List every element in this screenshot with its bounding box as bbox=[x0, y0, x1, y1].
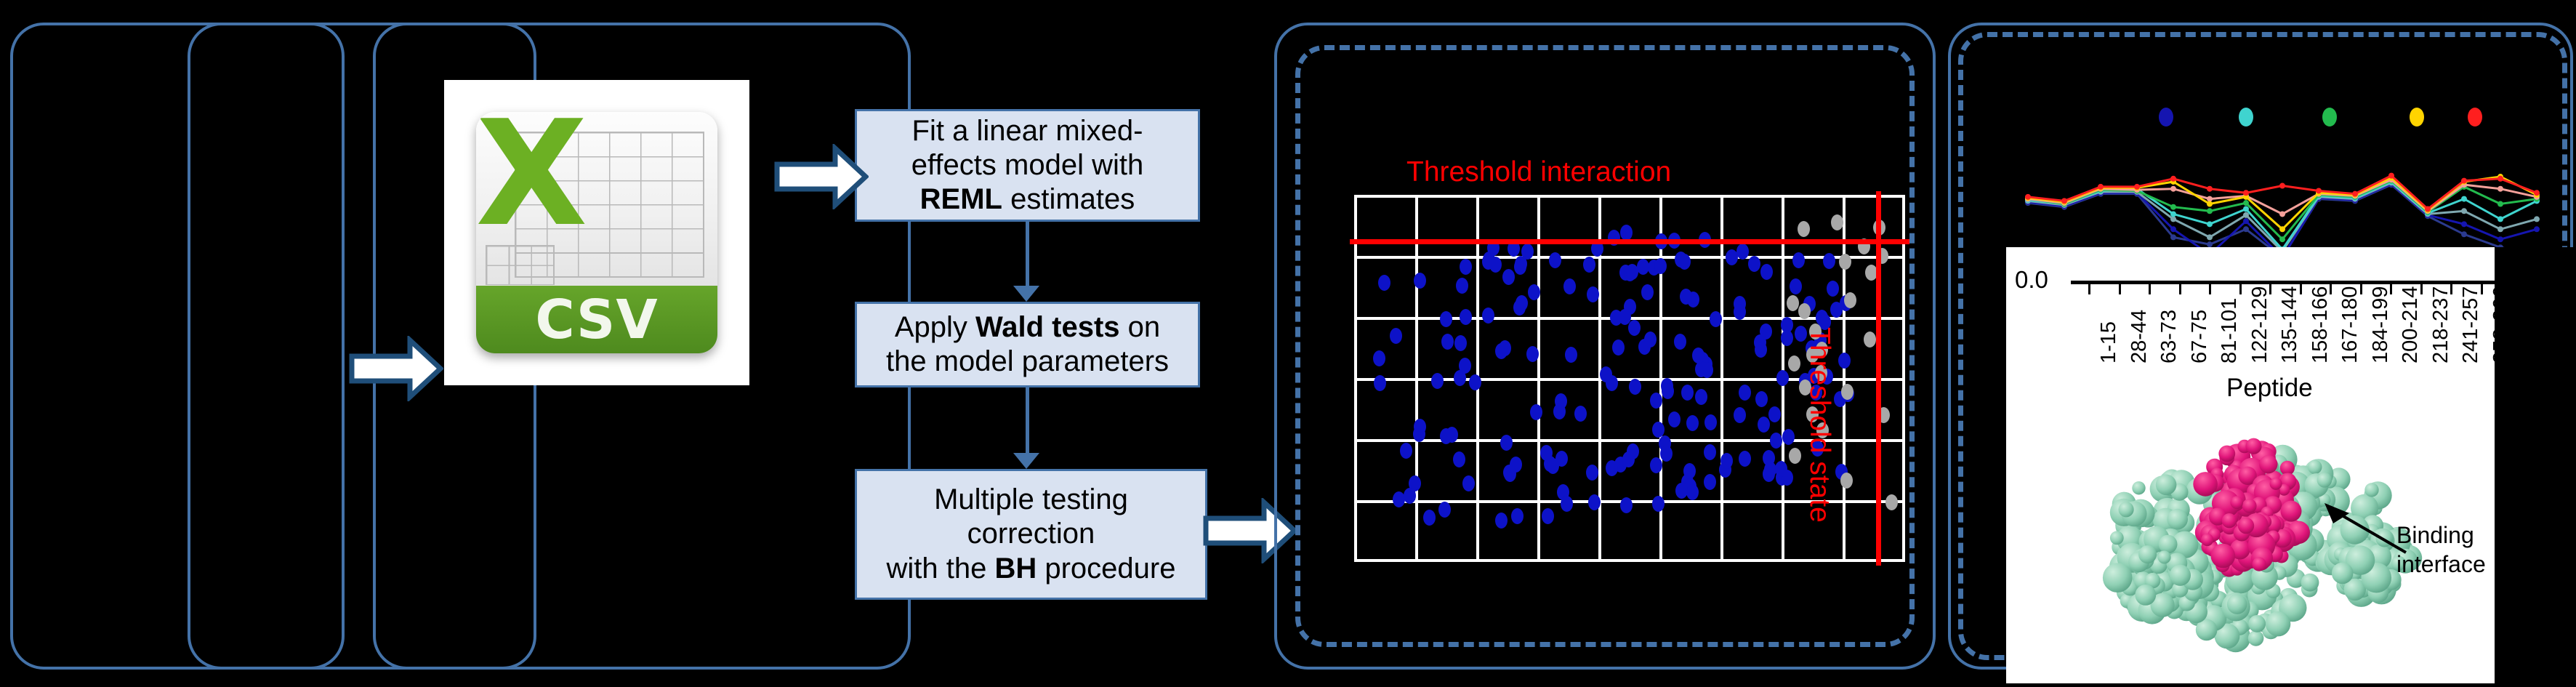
x-axis-tick-label: 67-75 bbox=[2188, 310, 2212, 363]
chart-data-point bbox=[2461, 231, 2467, 237]
x-axis-tick-label: 81-101 bbox=[2218, 298, 2242, 363]
protein-surface-atom bbox=[2242, 499, 2257, 513]
x-axis-tick bbox=[2300, 284, 2302, 294]
threshold-state-label: Threshold state bbox=[1803, 327, 1835, 523]
protein-surface-atom bbox=[2193, 472, 2218, 497]
chart-data-point bbox=[2279, 236, 2285, 242]
x-axis-tick bbox=[2481, 284, 2483, 294]
scatter-point bbox=[1565, 347, 1577, 363]
protein-surface-atom bbox=[2227, 594, 2247, 614]
protein-surface-atom bbox=[2332, 563, 2354, 584]
scatter-point bbox=[1482, 308, 1494, 324]
chart-data-point bbox=[2207, 221, 2213, 227]
chart-data-point bbox=[2207, 201, 2213, 207]
chart-data-point bbox=[2279, 183, 2285, 189]
scatter-point bbox=[1482, 254, 1494, 270]
scatter-point bbox=[1798, 303, 1811, 319]
scatter-point bbox=[1587, 286, 1599, 302]
x-axis-tick bbox=[2390, 284, 2392, 294]
scatter-point bbox=[1683, 463, 1696, 479]
connector-arrow-wald bbox=[1013, 286, 1039, 302]
scatter-point bbox=[1499, 340, 1511, 356]
results-card-right-clip bbox=[2495, 247, 2576, 683]
protein-surface-atom bbox=[2248, 615, 2266, 632]
scatter-point bbox=[1530, 404, 1542, 420]
peptide-x-axis bbox=[2071, 281, 2551, 284]
protein-surface-atom bbox=[2266, 611, 2290, 636]
x-axis-tick bbox=[2209, 284, 2211, 294]
chart-data-point bbox=[2243, 212, 2249, 218]
x-axis-tick bbox=[2360, 284, 2362, 294]
connector-arrow-bh bbox=[1013, 453, 1039, 469]
scatter-point bbox=[1704, 474, 1716, 490]
scatter-point bbox=[1734, 304, 1746, 320]
scatter-point bbox=[1378, 275, 1390, 291]
scatter-point bbox=[1678, 254, 1691, 270]
peptide-chart-legend bbox=[2013, 108, 2551, 131]
legend-dot bbox=[2322, 108, 2337, 126]
protein-surface-atom bbox=[2170, 565, 2191, 586]
legend-dot bbox=[2468, 108, 2482, 126]
chart-data-point bbox=[2534, 216, 2540, 222]
legend-dot bbox=[2239, 108, 2253, 126]
chart-data-point bbox=[2207, 241, 2213, 247]
scatter-point bbox=[1734, 407, 1746, 423]
protein-surface-structure bbox=[2093, 407, 2435, 662]
chart-data-point bbox=[2388, 173, 2394, 179]
process-step-wald-text: Apply Wald tests onthe model parameters bbox=[886, 310, 1169, 379]
scatter-point bbox=[1626, 264, 1638, 280]
protein-surface-atom bbox=[2211, 544, 2236, 569]
scatter-point bbox=[1516, 295, 1528, 311]
arrow-into-input-panel bbox=[349, 336, 443, 401]
scatter-point bbox=[1839, 254, 1851, 270]
scatter-point bbox=[1781, 330, 1793, 346]
protein-surface-atom bbox=[2132, 481, 2145, 494]
protein-surface-atom bbox=[2222, 513, 2237, 528]
scatter-point bbox=[1454, 370, 1466, 386]
protein-surface-atom bbox=[2110, 531, 2124, 545]
scatter-point bbox=[1792, 252, 1805, 268]
scatter-point bbox=[1885, 494, 1898, 510]
scatter-point bbox=[1864, 332, 1876, 347]
protein-surface-atom bbox=[2308, 460, 2322, 475]
scatter-point bbox=[1515, 256, 1527, 272]
protein-surface-atom bbox=[2167, 509, 2188, 530]
scatter-point bbox=[1775, 461, 1787, 477]
y-axis-tick-label: 0.0 bbox=[2015, 266, 2048, 294]
scatter-point bbox=[1495, 513, 1508, 529]
chart-data-point bbox=[2170, 186, 2176, 192]
process-step-reml-text: Fit a linear mixed-effects model withREM… bbox=[911, 114, 1143, 217]
scatter-point bbox=[1628, 320, 1641, 336]
chart-data-point bbox=[2025, 194, 2031, 200]
binding-interface-annotation: Binding interface bbox=[2396, 521, 2486, 579]
scatter-point bbox=[1650, 393, 1662, 409]
protein-surface-atom bbox=[2158, 551, 2171, 564]
scatter-point bbox=[1760, 264, 1773, 280]
chart-data-point bbox=[2461, 196, 2467, 202]
protein-surface-atom bbox=[2252, 557, 2266, 571]
scatter-point bbox=[1736, 244, 1749, 260]
scatter-point bbox=[1462, 475, 1475, 491]
scatter-point bbox=[1620, 497, 1633, 513]
scatter-point bbox=[1414, 273, 1426, 289]
chart-data-point bbox=[2170, 234, 2176, 240]
chart-data-point bbox=[2497, 201, 2503, 207]
protein-surface-atom bbox=[2218, 446, 2235, 462]
scatter-point bbox=[1827, 281, 1839, 297]
chart-data-point bbox=[2207, 234, 2213, 240]
protein-surface-atom bbox=[2119, 502, 2134, 517]
chart-data-point bbox=[2170, 216, 2176, 222]
scatter-point bbox=[1840, 473, 1853, 489]
scatter-point bbox=[1755, 391, 1768, 407]
x-axis-tick-label: 28-44 bbox=[2128, 310, 2152, 363]
scatter-point bbox=[1739, 385, 1751, 401]
scatter-point bbox=[1789, 448, 1801, 464]
process-step-wald[interactable]: Apply Wald tests onthe model parameters bbox=[855, 302, 1200, 387]
connector-reml-to-wald bbox=[1026, 222, 1029, 286]
connector-wald-to-bh bbox=[1026, 387, 1029, 453]
protein-surface-atom bbox=[2138, 545, 2157, 563]
protein-surface-atom bbox=[2201, 534, 2213, 546]
x-axis-tick-label: 1-15 bbox=[2097, 321, 2121, 363]
protein-surface-atom bbox=[2301, 574, 2319, 592]
protein-surface-atom bbox=[2248, 630, 2264, 646]
x-axis-tick-label: 167-180 bbox=[2338, 286, 2362, 363]
scatter-point bbox=[1686, 484, 1699, 500]
chart-data-point bbox=[2425, 206, 2431, 212]
protein-surface-atom bbox=[2103, 563, 2133, 592]
scatter-point bbox=[1674, 334, 1686, 350]
scatter-point bbox=[1624, 299, 1636, 315]
scatter-point bbox=[1695, 389, 1707, 405]
protein-surface-atom bbox=[2156, 475, 2177, 496]
x-axis-tick bbox=[2179, 284, 2181, 294]
scatter-point bbox=[1710, 311, 1722, 327]
x-axis-title: Peptide bbox=[2226, 374, 2313, 403]
x-axis-tick-label: 63-73 bbox=[2157, 310, 2181, 363]
scatter-point bbox=[1612, 340, 1625, 355]
chart-data-point bbox=[2461, 178, 2467, 184]
chart-data-point bbox=[2497, 186, 2503, 192]
chart-data-point bbox=[2497, 216, 2503, 222]
scatter-point bbox=[1704, 444, 1716, 460]
x-axis-tick bbox=[2450, 284, 2452, 294]
scatter-point bbox=[1680, 289, 1692, 305]
scatter-point bbox=[1790, 278, 1802, 294]
scatter-point bbox=[1526, 346, 1539, 362]
chart-data-point bbox=[2461, 208, 2467, 214]
binding-interface-line1: Binding bbox=[2396, 521, 2486, 550]
x-axis-tick-label: 122-129 bbox=[2248, 286, 2272, 363]
scatter-point bbox=[1695, 361, 1707, 377]
threshold-state-line bbox=[1876, 191, 1881, 566]
scatter-point bbox=[1400, 443, 1412, 459]
scatter-point bbox=[1542, 508, 1554, 524]
process-step-reml[interactable]: Fit a linear mixed-effects model withREM… bbox=[855, 109, 1200, 222]
protein-surface-atom bbox=[2135, 584, 2156, 606]
chart-data-point bbox=[2352, 191, 2358, 197]
x-axis-tick-label: 218-237 bbox=[2429, 286, 2453, 363]
scatter-point bbox=[1563, 278, 1576, 294]
scatter-point bbox=[1414, 419, 1426, 435]
chart-data-point bbox=[2207, 186, 2213, 192]
statistics-panel bbox=[373, 23, 911, 670]
scatter-point bbox=[1652, 422, 1665, 438]
x-axis-tick bbox=[2420, 284, 2423, 294]
scatter-point bbox=[1503, 465, 1516, 481]
chart-data-point bbox=[2134, 184, 2140, 190]
chart-data-point bbox=[2534, 190, 2540, 196]
chart-data-point bbox=[2170, 226, 2176, 232]
threshold-interaction-label: Threshold interaction bbox=[1406, 156, 1671, 188]
chart-data-point bbox=[2279, 226, 2285, 232]
chart-data-point bbox=[2170, 204, 2176, 210]
x-axis-tick bbox=[2239, 284, 2242, 294]
scatter-point bbox=[1456, 278, 1468, 294]
process-step-bh[interactable]: Multiple testingcorrectionwith the BH pr… bbox=[855, 469, 1207, 600]
scatter-point bbox=[1776, 370, 1789, 386]
legend-dot bbox=[2410, 108, 2424, 126]
chart-data-point bbox=[2243, 226, 2249, 232]
chart-data-point bbox=[2207, 196, 2213, 202]
process-step-bh-text: Multiple testingcorrectionwith the BH pr… bbox=[887, 483, 1176, 586]
x-axis-tick bbox=[2119, 284, 2121, 294]
scatter-point bbox=[1644, 332, 1657, 347]
scatter-point bbox=[1502, 269, 1515, 285]
chart-data-point bbox=[2497, 236, 2503, 242]
protein-surface-atom bbox=[2259, 455, 2277, 473]
scatter-point bbox=[1390, 328, 1402, 344]
legend-dot bbox=[2159, 108, 2173, 126]
chart-data-point bbox=[2098, 184, 2104, 190]
binding-interface-line2: interface bbox=[2396, 550, 2486, 579]
chart-data-point bbox=[2061, 198, 2067, 204]
chart-data-point bbox=[2461, 221, 2467, 227]
protein-surface-atom bbox=[2317, 473, 2333, 488]
scatter-point bbox=[1431, 373, 1444, 389]
chart-data-point bbox=[2207, 208, 2213, 214]
scatter-point bbox=[1440, 428, 1452, 444]
scatter-point bbox=[1760, 324, 1772, 340]
scatter-point bbox=[1574, 406, 1587, 422]
scatter-point bbox=[1662, 383, 1674, 399]
x-axis-tick bbox=[2149, 284, 2151, 294]
scatter-point bbox=[1782, 429, 1795, 445]
scatter-point bbox=[1755, 342, 1767, 358]
protein-surface-atom bbox=[2281, 501, 2302, 522]
scatter-point bbox=[1758, 417, 1770, 433]
protein-surface-atom bbox=[2159, 535, 2178, 554]
scatter-point bbox=[1547, 458, 1559, 474]
chart-data-point bbox=[2170, 211, 2176, 217]
scatter-point bbox=[1454, 335, 1467, 351]
protein-surface-atom bbox=[2364, 483, 2378, 497]
scatter-point bbox=[1511, 508, 1524, 524]
chart-data-point bbox=[2243, 218, 2249, 224]
chart-data-point bbox=[2170, 176, 2176, 182]
x-axis-tick-label: 135-144 bbox=[2278, 286, 2302, 363]
arrow-csv-to-statistics bbox=[774, 144, 869, 209]
chart-data-point bbox=[2497, 226, 2503, 232]
x-axis-tick bbox=[2269, 284, 2271, 294]
protein-surface-atom bbox=[2230, 496, 2243, 509]
x-axis-tick bbox=[2330, 284, 2332, 294]
chart-data-point bbox=[2243, 206, 2249, 212]
x-axis-tick-label: 241-257 bbox=[2459, 286, 2483, 363]
chart-data-point bbox=[2243, 190, 2249, 196]
threshold-interaction-line bbox=[1350, 239, 1909, 244]
x-axis-tick-label: 184-199 bbox=[2369, 286, 2393, 363]
protein-surface-atom bbox=[2245, 438, 2261, 454]
protein-surface-atom bbox=[2238, 518, 2254, 534]
scatter-point bbox=[1423, 510, 1436, 526]
scatter-point bbox=[1668, 411, 1681, 427]
chart-data-point bbox=[2497, 176, 2503, 182]
x-axis-tick-label: 158-166 bbox=[2309, 286, 2333, 363]
chart-data-point bbox=[2243, 200, 2249, 206]
scatter-point bbox=[1841, 384, 1853, 400]
scatter-point bbox=[1561, 496, 1573, 512]
protein-surface-atom bbox=[2270, 478, 2282, 490]
chart-data-point bbox=[2279, 211, 2285, 217]
scatter-point bbox=[1438, 502, 1451, 518]
chart-data-point bbox=[2534, 226, 2540, 232]
x-axis-tick-label: 200-214 bbox=[2399, 286, 2423, 363]
chart-data-point bbox=[2316, 188, 2322, 193]
x-axis-tick bbox=[2088, 284, 2090, 294]
scatter-point bbox=[1654, 258, 1667, 274]
